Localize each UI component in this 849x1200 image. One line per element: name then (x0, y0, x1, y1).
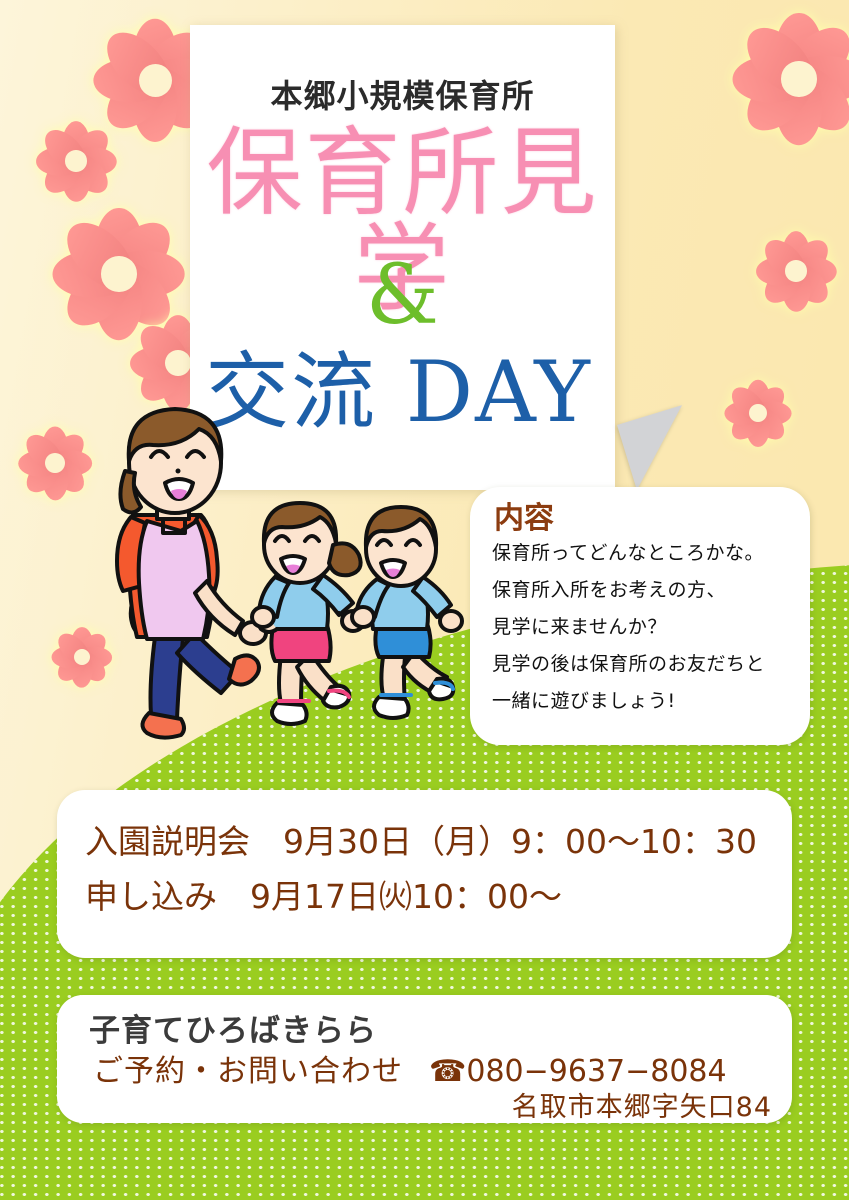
content-line: 見学に来ませんか？ (492, 609, 800, 646)
flower-icon (40, 125, 112, 197)
flower-center (139, 64, 172, 97)
flower-center (749, 404, 767, 422)
flower-petals (728, 383, 788, 443)
flower-icon (740, 20, 849, 138)
schedule-box: 入園説明会 9月30日（月）9：00〜10：30申し込み 9月17日㈫10：00… (57, 790, 792, 958)
flower-center (781, 61, 816, 96)
contact-box: 子育てひろばきらら ご予約・お問い合わせ ☎080−9637−8084 名取市本… (57, 995, 792, 1123)
contact-row: ご予約・お問い合わせ ☎080−9637−8084 (93, 1046, 774, 1090)
content-box: 内容 保育所ってどんなところかな。保育所入所をお考えの方、見学に来ませんか？見学… (470, 487, 810, 745)
schedule-line: 入園説明会 9月30日（月）9：00〜10：30 (85, 814, 786, 869)
flower-icon (760, 235, 832, 307)
flower-petals (40, 125, 112, 197)
flower-petals (740, 20, 849, 138)
flower-center (101, 256, 136, 291)
poster: 本郷小規模保育所 保育所見学 & 交流 DAY (0, 0, 849, 1200)
illustration-teacher-and-children (95, 405, 485, 750)
content-line: 見学の後は保育所のお友だちと (492, 646, 800, 683)
content-line: 一緒に遊びましょう! (492, 683, 800, 720)
flower-center (45, 453, 65, 473)
phone-number[interactable]: ☎080−9637−8084 (429, 1054, 727, 1089)
phone-digits: 080−9637−8084 (466, 1054, 726, 1089)
address: 名取市本郷字矢口84 (512, 1085, 772, 1124)
content-line: 保育所ってどんなところかな。 (492, 535, 800, 572)
organization-name: 子育てひろばきらら (89, 1005, 377, 1050)
flower-center (785, 260, 807, 282)
telephone-icon: ☎ (429, 1054, 466, 1089)
flower-petals (60, 215, 178, 333)
schedule-line: 申し込み 9月17日㈫10：00〜 (85, 869, 786, 924)
ampersand: & (190, 255, 615, 337)
content-heading: 内容 (494, 493, 554, 537)
facility-name: 本郷小規模保育所 (190, 71, 615, 117)
flower-petals (760, 235, 832, 307)
flower-icon (60, 215, 178, 333)
flower-petals (22, 430, 88, 496)
flower-icon (728, 383, 788, 443)
flower-center (65, 150, 87, 172)
content-body: 保育所ってどんなところかな。保育所入所をお考えの方、見学に来ませんか？見学の後は… (492, 535, 800, 720)
page-fold-corner (617, 405, 702, 490)
schedule-lines: 入園説明会 9月30日（月）9：00〜10：30申し込み 9月17日㈫10：00… (85, 814, 786, 924)
reservation-label: ご予約・お問い合わせ (93, 1046, 403, 1090)
flower-center (74, 649, 90, 665)
flower-icon (22, 430, 88, 496)
content-line: 保育所入所をお考えの方、 (492, 572, 800, 609)
